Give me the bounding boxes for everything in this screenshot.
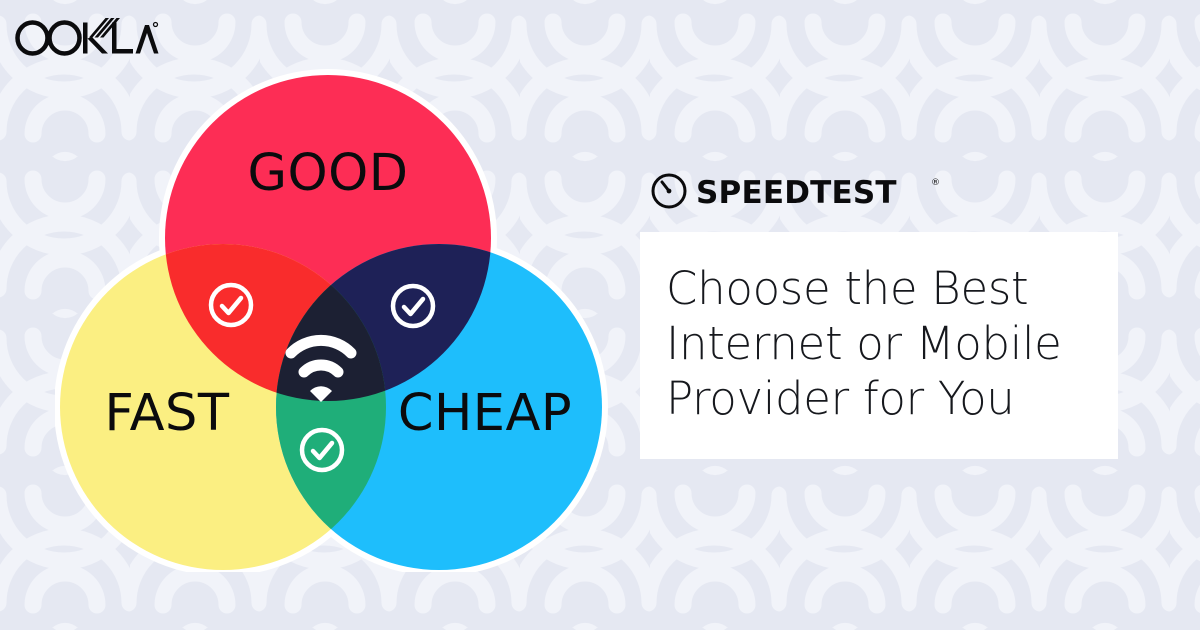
headline-card: Choose the Best Internet or Mobile Provi… (640, 232, 1118, 459)
speedometer-icon (653, 175, 685, 207)
page-title: Choose the Best Internet or Mobile Provi… (640, 262, 1118, 427)
ookla-logo (14, 14, 159, 58)
speedtest-wordmark: SPEEDTEST (696, 175, 897, 211)
headline-line-3: Provider for You (666, 372, 1092, 427)
registered-trademark-icon (154, 23, 158, 27)
speedtest-logo: SPEEDTEST ® (648, 170, 948, 212)
venn-label-good: GOOD (247, 144, 408, 203)
venn-label-fast: FAST (104, 384, 229, 443)
right-content-column: SPEEDTEST ® Choose the Best Internet or … (640, 170, 1130, 459)
headline-line-1: Choose the Best (666, 262, 1092, 317)
speedtest-trademark: ® (931, 178, 940, 188)
headline-line-2: Internet or Mobile (666, 317, 1092, 372)
venn-diagram: GOOD FAST CHEAP (55, 62, 615, 572)
poster-canvas: GOOD FAST CHEAP (0, 0, 1200, 630)
venn-label-cheap: CHEAP (398, 384, 572, 443)
